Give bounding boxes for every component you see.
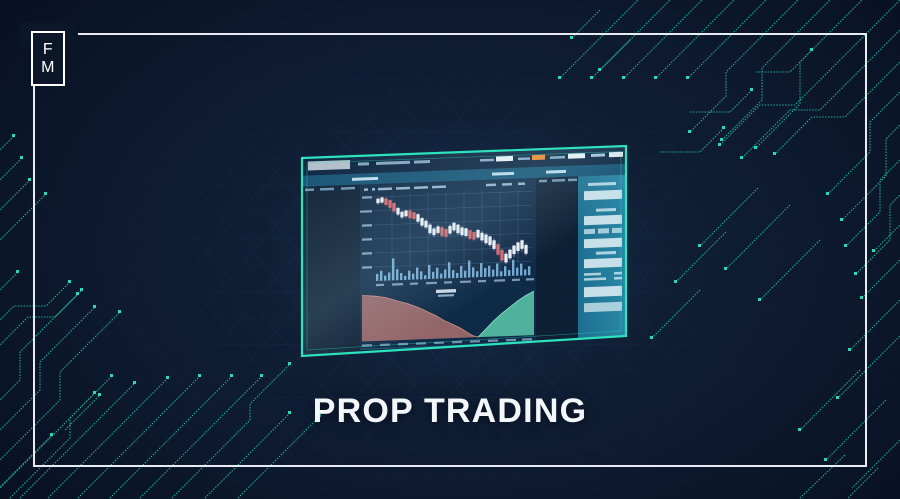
fm-logo-letter-m: M <box>41 60 55 76</box>
page-title: PROP TRADING <box>0 392 900 431</box>
poster-canvas: F M PROP TRADING <box>0 0 900 499</box>
trading-dashboard-image <box>296 140 632 362</box>
fm-logo-letter-f: F <box>43 42 53 58</box>
fm-logo[interactable]: F M <box>31 31 65 86</box>
